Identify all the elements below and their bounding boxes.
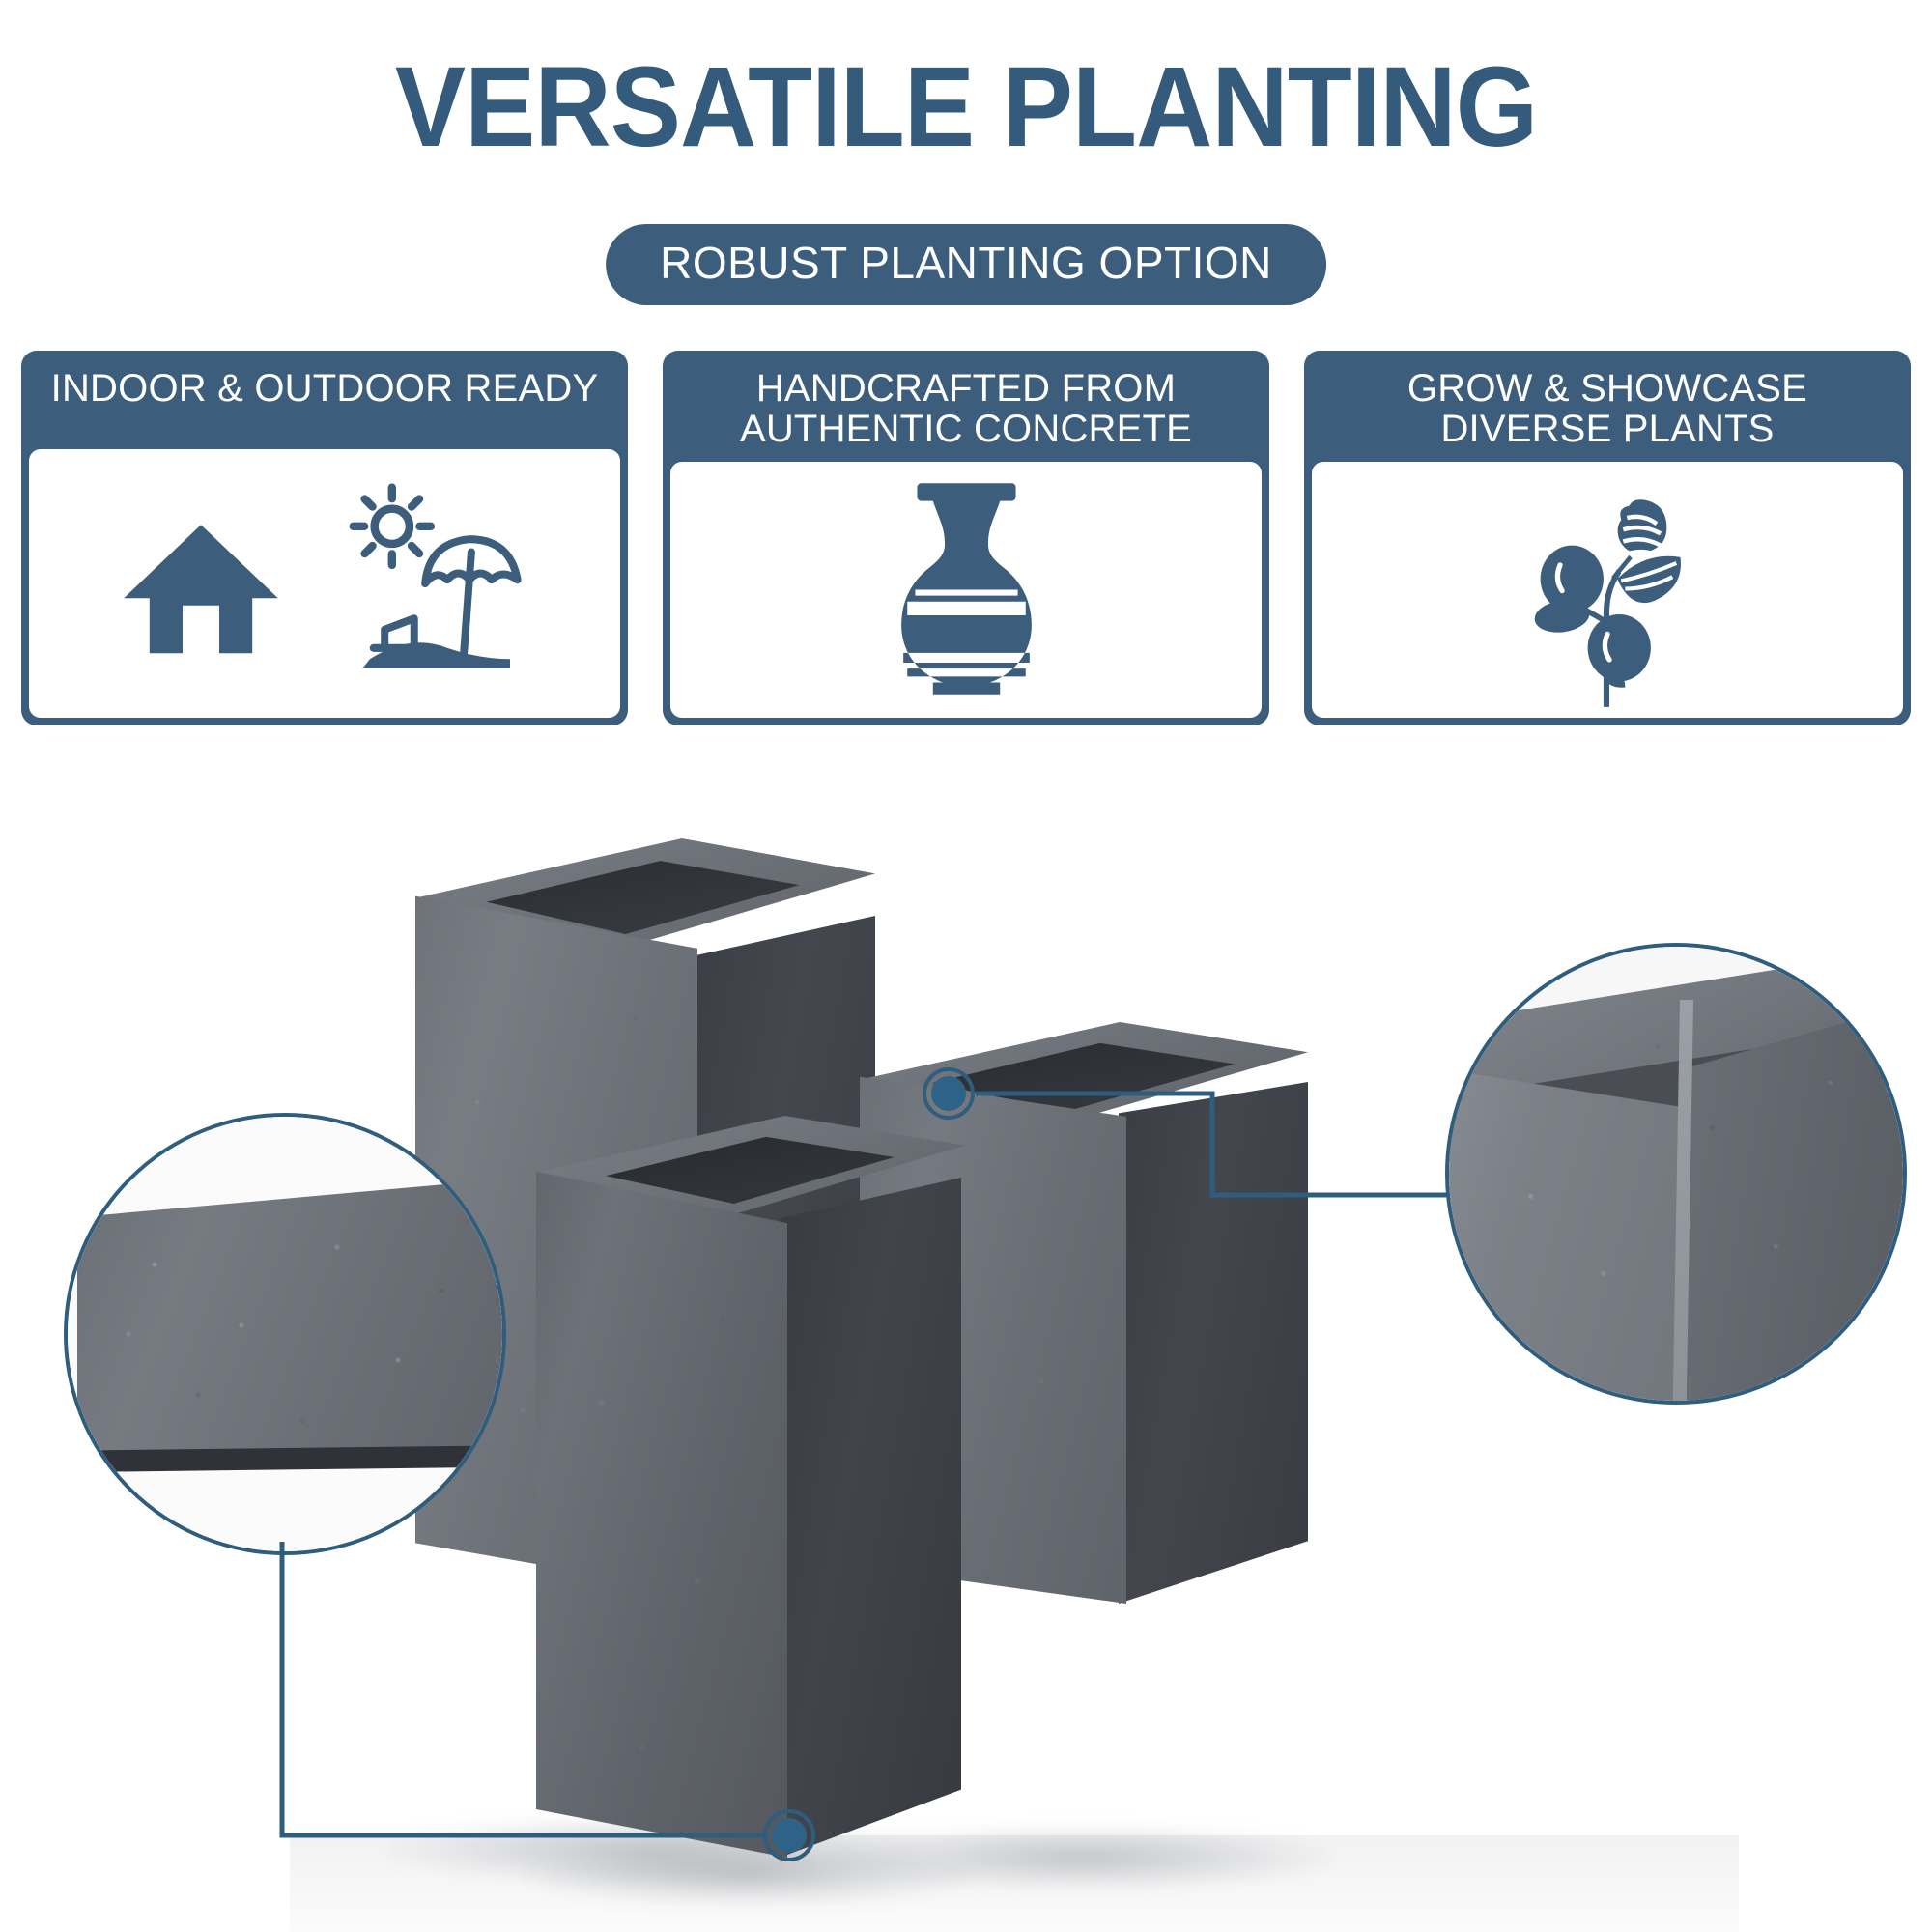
feature-card-indoor-outdoor: INDOOR & OUTDOOR READY	[21, 351, 628, 725]
detail-concrete-texture-image	[68, 1117, 502, 1551]
beach-umbrella-icon	[318, 482, 540, 685]
berry-branch-icon	[1496, 467, 1719, 713]
planter-small-texture	[536, 1168, 787, 1858]
feature-card-row: INDOOR & OUTDOOR READY	[21, 351, 1911, 725]
feature-card-icons	[670, 462, 1262, 718]
feature-card-icons	[29, 449, 620, 718]
feature-card-concrete: HANDCRAFTED FROM AUTHENTIC CONCRETE	[663, 351, 1269, 725]
planter-small-side	[780, 1178, 961, 1858]
feature-card-plants: GROW & SHOWCASE DIVERSE PLANTS	[1304, 351, 1911, 725]
house-icon	[109, 492, 293, 675]
planter-small	[536, 1116, 961, 1860]
marker-dot-crisp-edge	[931, 1076, 966, 1111]
planter-medium-side	[1119, 1082, 1308, 1604]
marker-dot-concrete-texture	[772, 1818, 807, 1853]
detail-circle-crisp-edge	[1445, 943, 1907, 1405]
feature-card-title: HANDCRAFTED FROM AUTHENTIC CONCRETE	[670, 358, 1262, 462]
feature-card-icons	[1312, 462, 1903, 718]
page-title: VERSATILE PLANTING	[68, 48, 1864, 168]
sun-icon	[354, 488, 431, 565]
vase-icon	[867, 471, 1065, 708]
subtitle-badge: ROBUST PLANTING OPTION	[606, 224, 1326, 305]
infographic-root: VERSATILE PLANTING ROBUST PLANTING OPTIO…	[0, 0, 1932, 1932]
detail-crisp-edge-image	[1449, 947, 1903, 1401]
feature-card-title: GROW & SHOWCASE DIVERSE PLANTS	[1312, 358, 1903, 462]
detail-circle-concrete-texture	[64, 1113, 506, 1555]
feature-card-title: INDOOR & OUTDOOR READY	[29, 358, 620, 449]
